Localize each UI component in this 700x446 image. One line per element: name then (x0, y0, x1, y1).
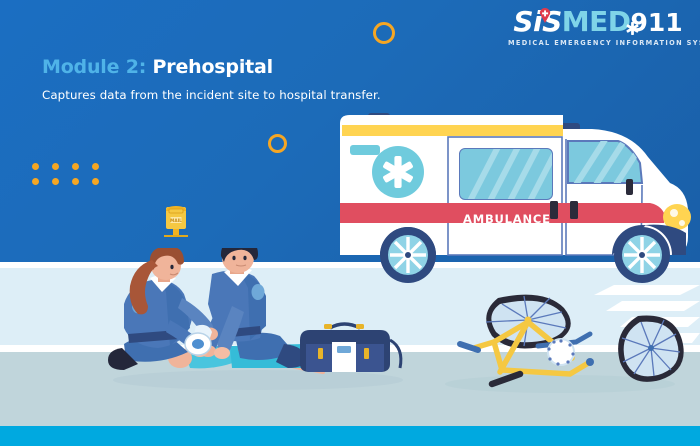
logo-wordmark: SiSMED911 (513, 8, 682, 36)
paramedics-illustration (108, 248, 448, 398)
page-title: Module 2: Prehospital (42, 56, 472, 79)
mailbox-label: MAIL (170, 218, 182, 223)
mailbox-icon: MAIL (164, 203, 188, 242)
module-name: Prehospital (153, 56, 273, 78)
logo-sis-text: SiS (513, 5, 561, 38)
bottom-accent-bar (0, 426, 700, 446)
bicycle-illustration (440, 288, 690, 403)
decor-ring-icon (373, 22, 395, 44)
page-subtitle: Captures data from the incident site to … (42, 88, 472, 102)
paramedic-male-figure (200, 248, 306, 368)
ambulance-label: AMBULANCE (463, 212, 551, 226)
ambulance-roof-stripe (342, 125, 563, 136)
bicycle-chainring-icon (547, 339, 574, 366)
headline-block: Module 2: Prehospital Captures data from… (42, 56, 472, 102)
ambulance-wheel-icon (614, 227, 670, 283)
map-pin-cross-icon (539, 0, 551, 15)
module-banner: MAIL (0, 0, 700, 446)
decor-dot-grid-icon (32, 163, 112, 193)
module-label: Module 2: (42, 56, 146, 78)
logo-tagline: MEDICAL EMERGENCY INFORMATION SYSTEM (508, 40, 688, 47)
bicycle-wheel-icon (618, 316, 684, 382)
bag-valve-mask-icon (185, 325, 212, 355)
ambulance-star-of-life-icon (372, 146, 424, 198)
logo-med-text: MED (562, 5, 631, 38)
brand-logo: SiSMED911 MEDICAL EMERGENCY INF (508, 8, 688, 47)
decor-ring-icon (268, 134, 287, 153)
star-of-life-icon (625, 13, 640, 28)
medical-bag-icon (300, 324, 401, 372)
